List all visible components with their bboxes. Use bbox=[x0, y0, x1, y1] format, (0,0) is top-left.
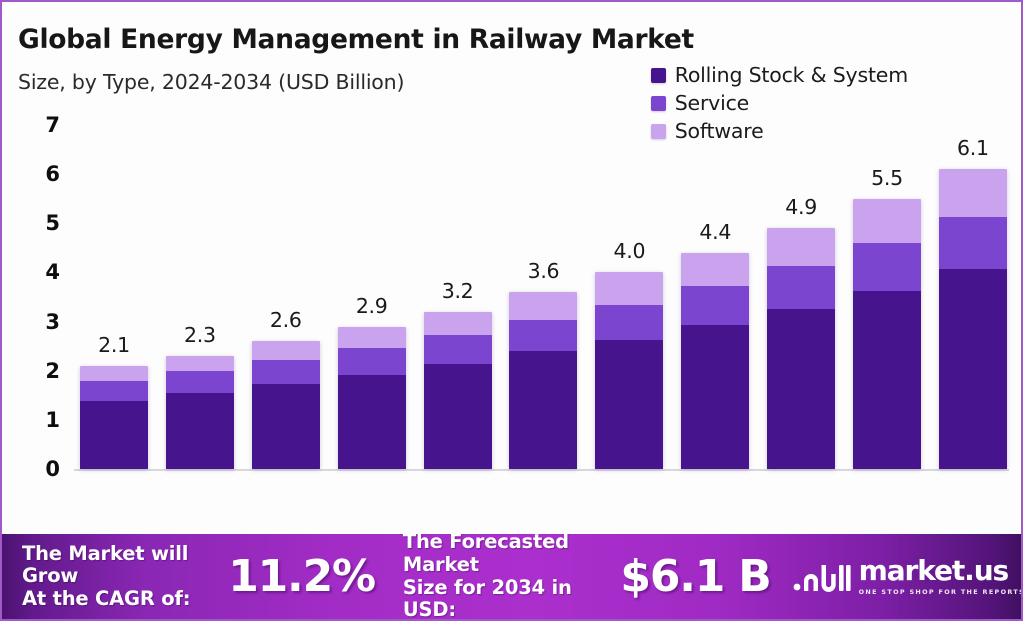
stacked-bar[interactable] bbox=[424, 312, 492, 469]
cagr-value: 11.2% bbox=[228, 551, 375, 602]
bar-segment[interactable] bbox=[509, 351, 577, 469]
bar-segment[interactable] bbox=[509, 292, 577, 320]
bar-column[interactable]: 4.4 bbox=[681, 112, 749, 469]
bar-segment[interactable] bbox=[595, 340, 663, 469]
forecast-caption: The Forecasted Market Size for 2034 in U… bbox=[403, 534, 599, 619]
cagr-caption: The Market will Grow At the CAGR of: bbox=[22, 543, 202, 611]
stacked-bar[interactable] bbox=[80, 366, 148, 469]
bar-segment[interactable] bbox=[509, 320, 577, 351]
y-axis-tick-label: 4 bbox=[12, 260, 60, 284]
bar-value-label: 3.6 bbox=[509, 259, 577, 283]
forecast-value: $6.1 B bbox=[620, 551, 770, 602]
stats-banner: The Market will Grow At the CAGR of: 11.… bbox=[2, 534, 1023, 619]
cagr-caption-line1: The Market will Grow bbox=[22, 543, 202, 588]
bar-value-label: 4.0 bbox=[595, 239, 663, 263]
bar-segment[interactable] bbox=[853, 243, 921, 291]
forecast-caption-line1: The Forecasted Market bbox=[403, 534, 599, 577]
legend-item[interactable]: Rolling Stock & System bbox=[651, 61, 908, 89]
bar-value-label: 4.9 bbox=[767, 195, 835, 219]
y-axis-tick-label: 1 bbox=[12, 408, 60, 432]
bar-column[interactable]: 2.1 bbox=[80, 112, 148, 469]
logo-wordmark: market.us bbox=[859, 557, 1023, 585]
bar-segment[interactable] bbox=[681, 286, 749, 325]
bar-segment[interactable] bbox=[80, 366, 148, 381]
bar-column[interactable]: 4.0 bbox=[595, 112, 663, 469]
bar-segment[interactable] bbox=[252, 384, 320, 469]
stacked-bar[interactable] bbox=[338, 327, 406, 469]
bar-segment[interactable] bbox=[681, 253, 749, 286]
bar-segment[interactable] bbox=[767, 228, 835, 265]
bar-segment[interactable] bbox=[252, 360, 320, 385]
bar-column[interactable]: 4.9 bbox=[767, 112, 835, 469]
bar-value-label: 2.9 bbox=[338, 294, 406, 318]
stacked-bar[interactable] bbox=[767, 228, 835, 469]
bar-segment[interactable] bbox=[767, 266, 835, 309]
bar-segment[interactable] bbox=[338, 375, 406, 469]
y-axis: 01234567 bbox=[12, 112, 60, 522]
x-axis-baseline bbox=[74, 469, 1009, 471]
bar-segment[interactable] bbox=[424, 312, 492, 336]
bar-segment[interactable] bbox=[853, 199, 921, 243]
market-us-logo-icon bbox=[793, 560, 851, 594]
legend-swatch-icon bbox=[651, 96, 666, 111]
bar-value-label: 2.1 bbox=[80, 333, 148, 357]
bar-column[interactable]: 6.1 bbox=[939, 112, 1007, 469]
bar-segment[interactable] bbox=[166, 393, 234, 469]
bar-column[interactable]: 2.6 bbox=[252, 112, 320, 469]
bar-column[interactable]: 3.2 bbox=[424, 112, 492, 469]
bar-segment[interactable] bbox=[681, 325, 749, 469]
y-axis-tick-label: 2 bbox=[12, 359, 60, 383]
bar-column[interactable]: 2.3 bbox=[166, 112, 234, 469]
bar-segment[interactable] bbox=[595, 305, 663, 340]
bar-segment[interactable] bbox=[939, 269, 1007, 469]
legend-item-label: Rolling Stock & System bbox=[675, 63, 908, 87]
market-us-logo[interactable]: market.us ONE STOP SHOP FOR THE REPORTS bbox=[793, 557, 1023, 596]
stacked-bar[interactable] bbox=[595, 272, 663, 469]
bar-value-label: 4.4 bbox=[681, 220, 749, 244]
stacked-bar[interactable] bbox=[252, 341, 320, 469]
bar-value-label: 6.1 bbox=[939, 136, 1007, 160]
y-axis-tick-label: 5 bbox=[12, 211, 60, 235]
legend-swatch-icon bbox=[651, 68, 666, 83]
page-title: Global Energy Management in Railway Mark… bbox=[18, 24, 694, 55]
bar-segment[interactable] bbox=[939, 169, 1007, 217]
logo-tagline: ONE STOP SHOP FOR THE REPORTS bbox=[859, 588, 1023, 596]
stacked-bar[interactable] bbox=[853, 199, 921, 469]
bar-segment[interactable] bbox=[424, 364, 492, 469]
bar-segment[interactable] bbox=[166, 356, 234, 371]
bar-segment[interactable] bbox=[853, 291, 921, 469]
logo-text: market.us ONE STOP SHOP FOR THE REPORTS bbox=[859, 557, 1023, 596]
bar-segment[interactable] bbox=[252, 341, 320, 360]
bar-value-label: 3.2 bbox=[424, 279, 492, 303]
chart-subtitle: Size, by Type, 2024-2034 (USD Billion) bbox=[18, 70, 404, 94]
bar-segment[interactable] bbox=[338, 327, 406, 349]
bar-segment[interactable] bbox=[80, 401, 148, 469]
y-axis-tick-label: 3 bbox=[12, 310, 60, 334]
bar-column[interactable]: 3.6 bbox=[509, 112, 577, 469]
bar-segment[interactable] bbox=[80, 381, 148, 402]
bar-segment[interactable] bbox=[595, 272, 663, 305]
forecast-caption-line2: Size for 2034 in USD: bbox=[403, 577, 599, 620]
stacked-bar[interactable] bbox=[509, 292, 577, 469]
bar-series-group: 2.12.32.62.93.23.64.04.44.95.56.1 bbox=[80, 112, 1007, 469]
bar-segment[interactable] bbox=[767, 309, 835, 469]
stacked-bar[interactable] bbox=[681, 253, 749, 469]
stacked-bar[interactable] bbox=[166, 356, 234, 469]
bar-column[interactable]: 2.9 bbox=[338, 112, 406, 469]
bar-value-label: 2.6 bbox=[252, 308, 320, 332]
bar-segment[interactable] bbox=[424, 335, 492, 364]
cagr-caption-line2: At the CAGR of: bbox=[22, 588, 202, 611]
bar-segment[interactable] bbox=[338, 348, 406, 375]
bar-segment[interactable] bbox=[939, 217, 1007, 270]
bar-value-label: 5.5 bbox=[853, 166, 921, 190]
bar-value-label: 2.3 bbox=[166, 323, 234, 347]
y-axis-tick-label: 0 bbox=[12, 457, 60, 481]
chart-card: Global Energy Management in Railway Mark… bbox=[0, 0, 1023, 621]
bar-column[interactable]: 5.5 bbox=[853, 112, 921, 469]
y-axis-tick-label: 7 bbox=[12, 113, 60, 137]
bar-segment[interactable] bbox=[166, 371, 234, 393]
stacked-bar[interactable] bbox=[939, 169, 1007, 469]
plot-area: 01234567 2.12.32.62.93.23.64.04.44.95.56… bbox=[2, 112, 1023, 522]
y-axis-tick-label: 6 bbox=[12, 162, 60, 186]
